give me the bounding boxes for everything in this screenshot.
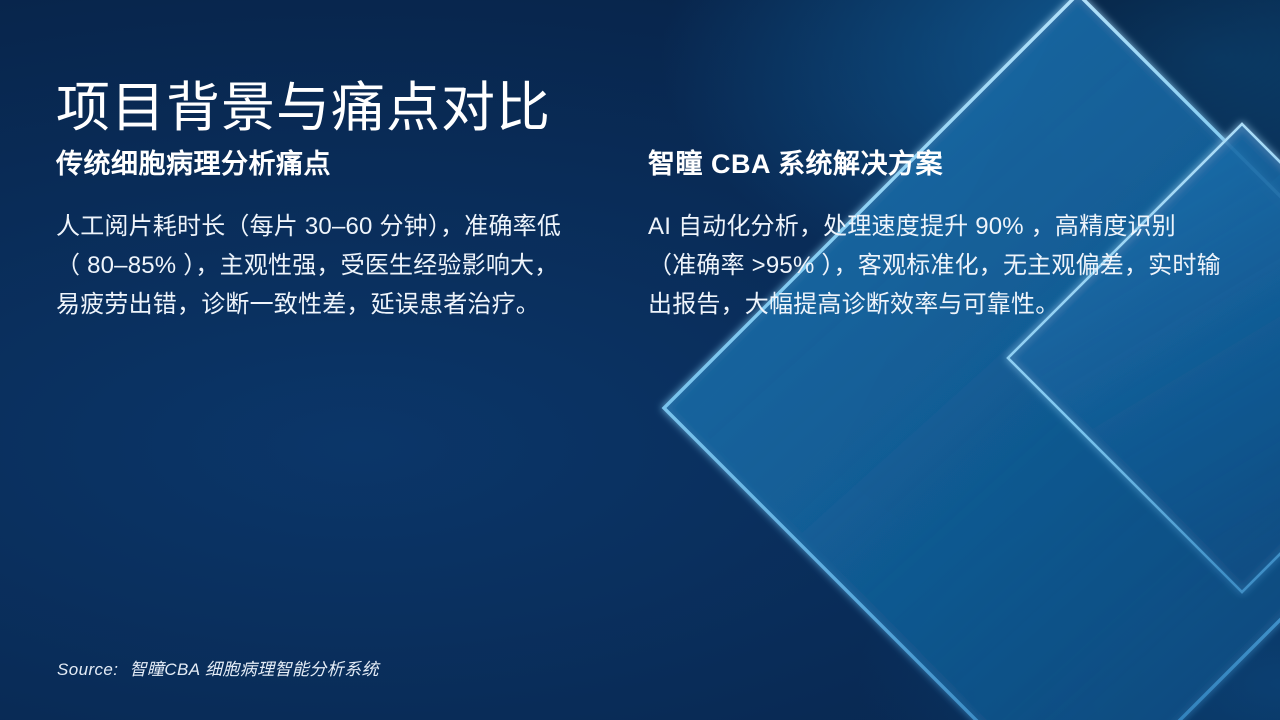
source-value: 智瞳CBA 细胞病理智能分析系统 xyxy=(130,660,379,679)
column-body-pain-points: 人工阅片耗时长（每片 30–60 分钟），准确率低（ 80–85% ），主观性强… xyxy=(56,208,576,325)
column-heading-pain-points: 传统细胞病理分析痛点 xyxy=(56,148,616,182)
source-note: Source: 智瞳CBA 细胞病理智能分析系统 xyxy=(57,655,379,680)
column-heading-solution: 智瞳 CBA 系统解决方案 xyxy=(648,148,1228,182)
column-solution: 智瞳 CBA 系统解决方案 AI 自动化分析，处理速度提升 90% ，高精度识别… xyxy=(648,148,1228,324)
column-body-solution: AI 自动化分析，处理速度提升 90% ，高精度识别（准确率 >95% ），客观… xyxy=(648,208,1223,325)
large-diamond xyxy=(664,0,1280,720)
source-label: Source: xyxy=(57,660,118,679)
slide-canvas: 项目背景与痛点对比 传统细胞病理分析痛点 人工阅片耗时长（每片 30–60 分钟… xyxy=(0,0,1280,720)
column-pain-points: 传统细胞病理分析痛点 人工阅片耗时长（每片 30–60 分钟），准确率低（ 80… xyxy=(56,148,616,324)
page-title: 项目背景与痛点对比 xyxy=(56,78,551,138)
